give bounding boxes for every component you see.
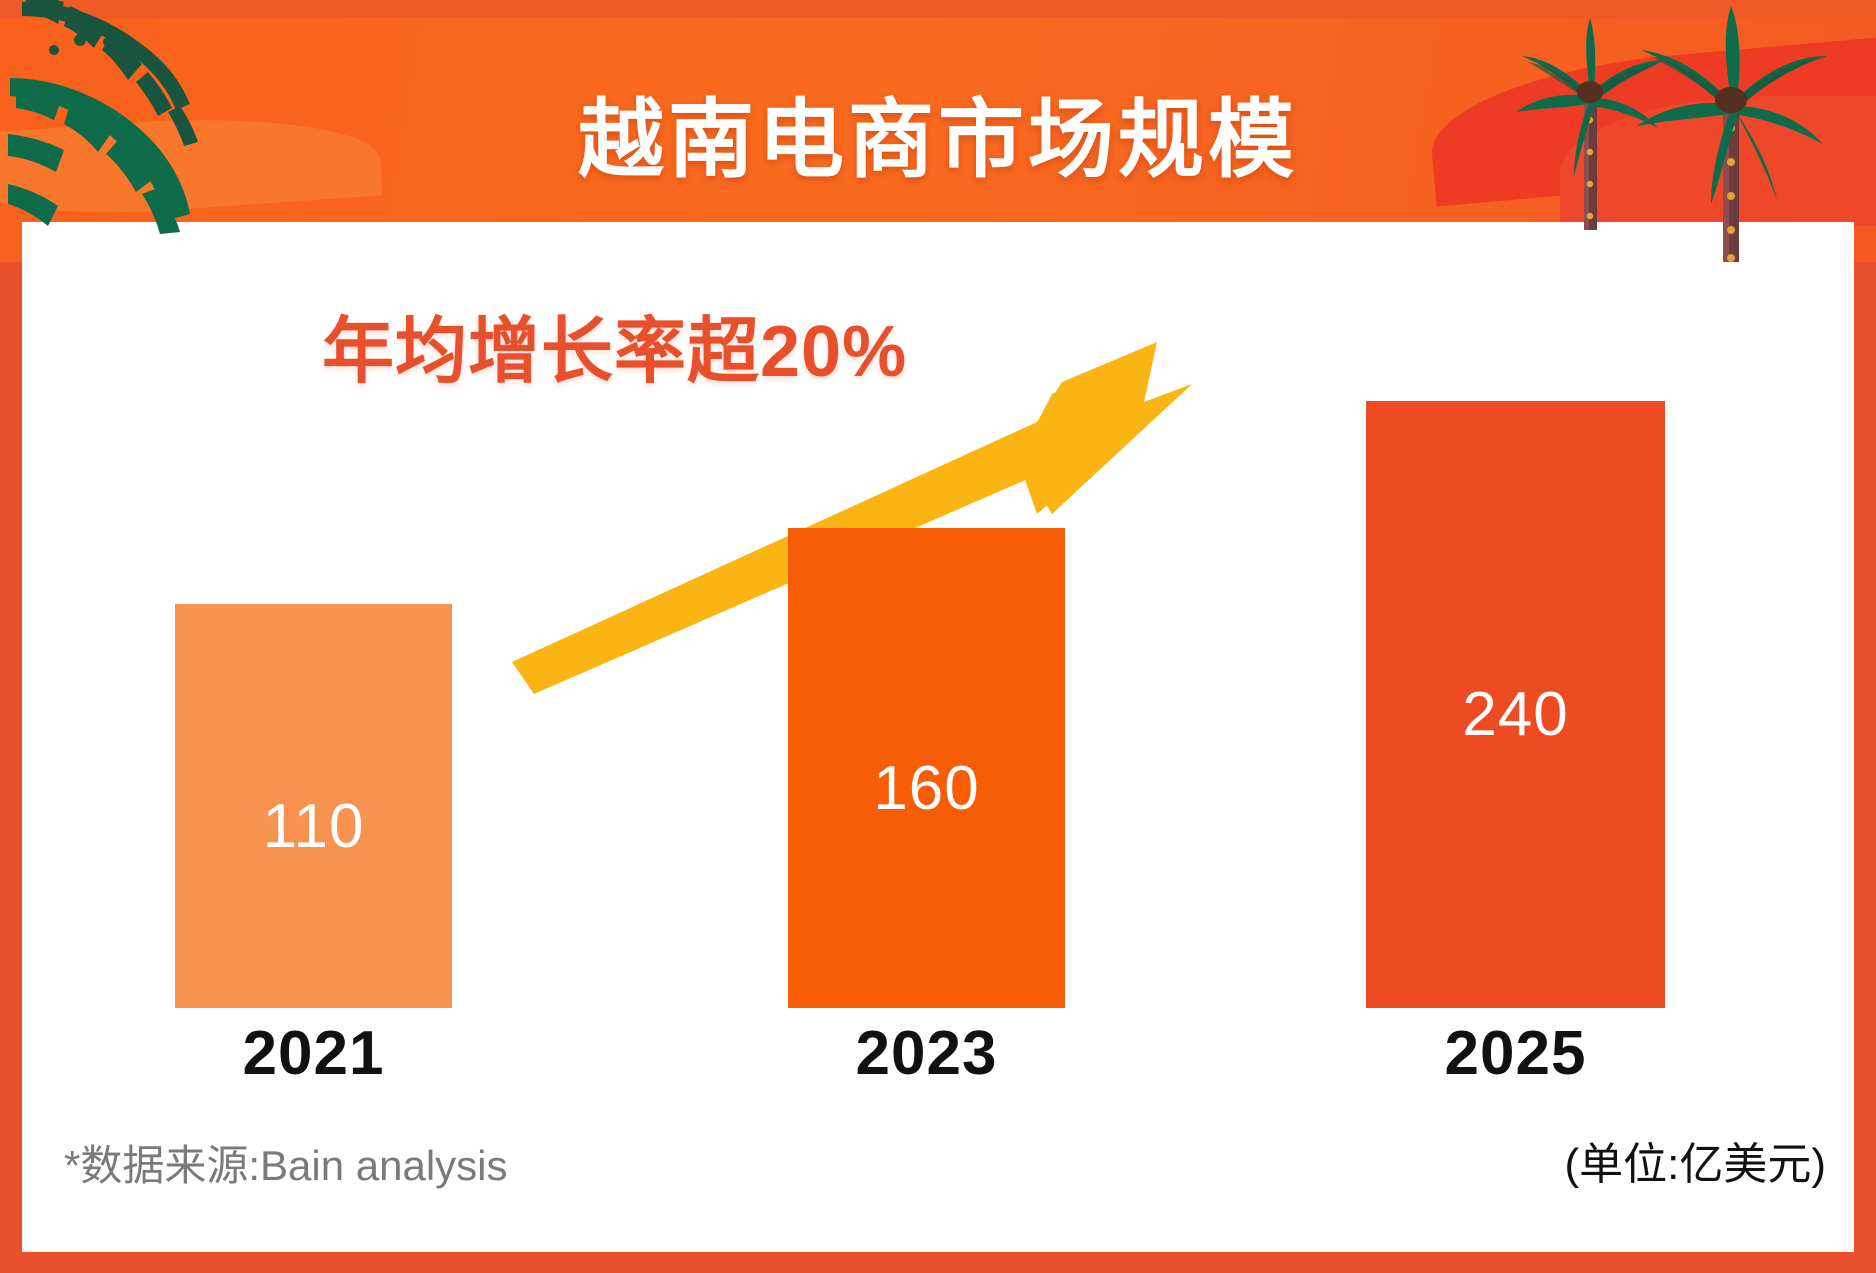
page-title: 越南电商市场规模 bbox=[0, 0, 1876, 262]
category-label-2023: 2023 bbox=[788, 1018, 1065, 1089]
category-label-2021: 2021 bbox=[175, 1018, 452, 1089]
bar-2021: 110 bbox=[175, 604, 452, 1008]
category-label-2025: 2025 bbox=[1366, 1018, 1665, 1089]
bar-2023: 160 bbox=[788, 528, 1065, 1008]
infographic-poster: 越南电商市场规模 年均增长率超20% 110 160 240 2021 2023… bbox=[0, 0, 1876, 1273]
growth-annotation: 年均增长率超20% bbox=[322, 292, 907, 397]
bar-value-2021: 110 bbox=[263, 791, 365, 862]
bar-value-2023: 160 bbox=[873, 753, 979, 824]
bar-value-2025: 240 bbox=[1462, 679, 1568, 750]
header-banner: 越南电商市场规模 bbox=[0, 0, 1876, 262]
bar-2025: 240 bbox=[1366, 401, 1665, 1008]
unit-note: (单位:亿美元) bbox=[1564, 1128, 1826, 1192]
chart-panel: 年均增长率超20% 110 160 240 2021 2023 2025 *数据… bbox=[22, 222, 1854, 1252]
source-note: *数据来源:Bain analysis bbox=[64, 1132, 507, 1193]
